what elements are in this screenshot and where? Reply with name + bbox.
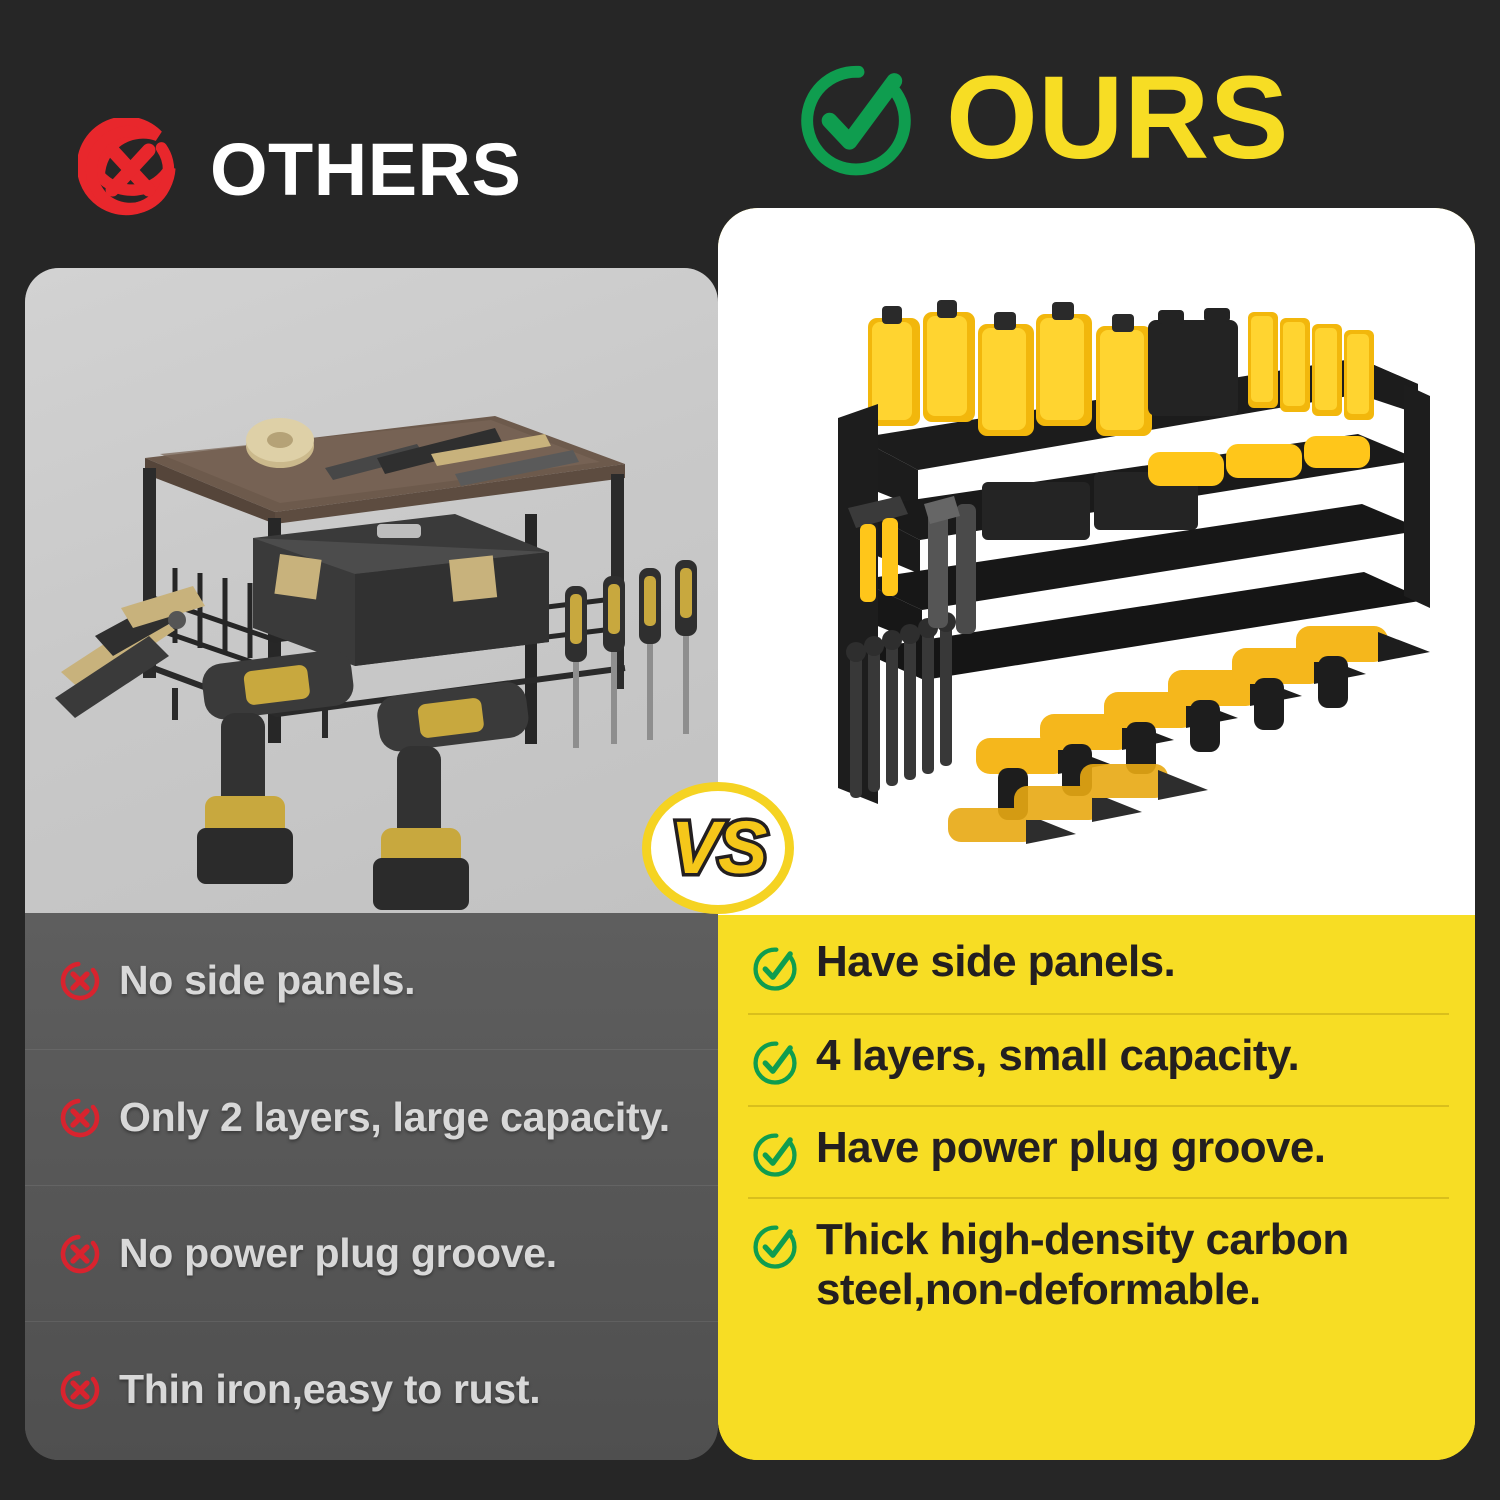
x-circle-icon (57, 958, 103, 1004)
check-circle-icon (790, 52, 922, 184)
ours-product-photo (718, 208, 1475, 915)
check-circle-icon (748, 1219, 802, 1273)
others-product-photo (25, 268, 718, 913)
list-item-label: Only 2 layers, large capacity. (119, 1095, 670, 1141)
others-card: No side panels. Only 2 layers, large cap… (25, 268, 718, 1460)
list-item-label: No side panels. (119, 958, 415, 1004)
x-circle-icon (57, 1095, 103, 1141)
vs-label: VS (671, 811, 766, 885)
comparison-infographic: OTHERS OURS (0, 0, 1500, 1500)
ours-feature-list: Have side panels. 4 layers, small capaci… (718, 915, 1475, 1460)
others-header: OTHERS (78, 118, 521, 222)
others-title: OTHERS (210, 133, 521, 207)
list-item-label: No power plug groove. (119, 1231, 557, 1277)
list-item-label: Thick high-density carbon steel,non-defo… (816, 1215, 1449, 1315)
list-item-label: Have power plug groove. (816, 1123, 1325, 1173)
ours-title: OURS (946, 59, 1289, 177)
ours-card: Have side panels. 4 layers, small capaci… (718, 208, 1475, 1460)
list-item: No power plug groove. (25, 1185, 718, 1321)
check-circle-icon (748, 1035, 802, 1089)
vs-badge: VS (642, 782, 794, 914)
x-circle-icon (57, 1367, 103, 1413)
x-circle-icon (57, 1231, 103, 1277)
list-item-label: 4 layers, small capacity. (816, 1031, 1299, 1081)
list-item: Only 2 layers, large capacity. (25, 1049, 718, 1185)
list-item-label: Have side panels. (816, 937, 1175, 987)
list-item: Thick high-density carbon steel,non-defo… (748, 1197, 1449, 1331)
check-circle-icon (748, 941, 802, 995)
list-item-label: Thin iron,easy to rust. (119, 1367, 540, 1413)
list-item: Have side panels. (748, 921, 1449, 1013)
list-item: Thin iron,easy to rust. (25, 1321, 718, 1457)
list-item: 4 layers, small capacity. (748, 1013, 1449, 1105)
check-circle-icon (748, 1127, 802, 1181)
list-item: Have power plug groove. (748, 1105, 1449, 1197)
list-item: No side panels. (25, 913, 718, 1049)
others-feature-list: No side panels. Only 2 layers, large cap… (25, 913, 718, 1460)
ours-header: OURS (790, 52, 1289, 184)
x-circle-icon (78, 118, 182, 222)
